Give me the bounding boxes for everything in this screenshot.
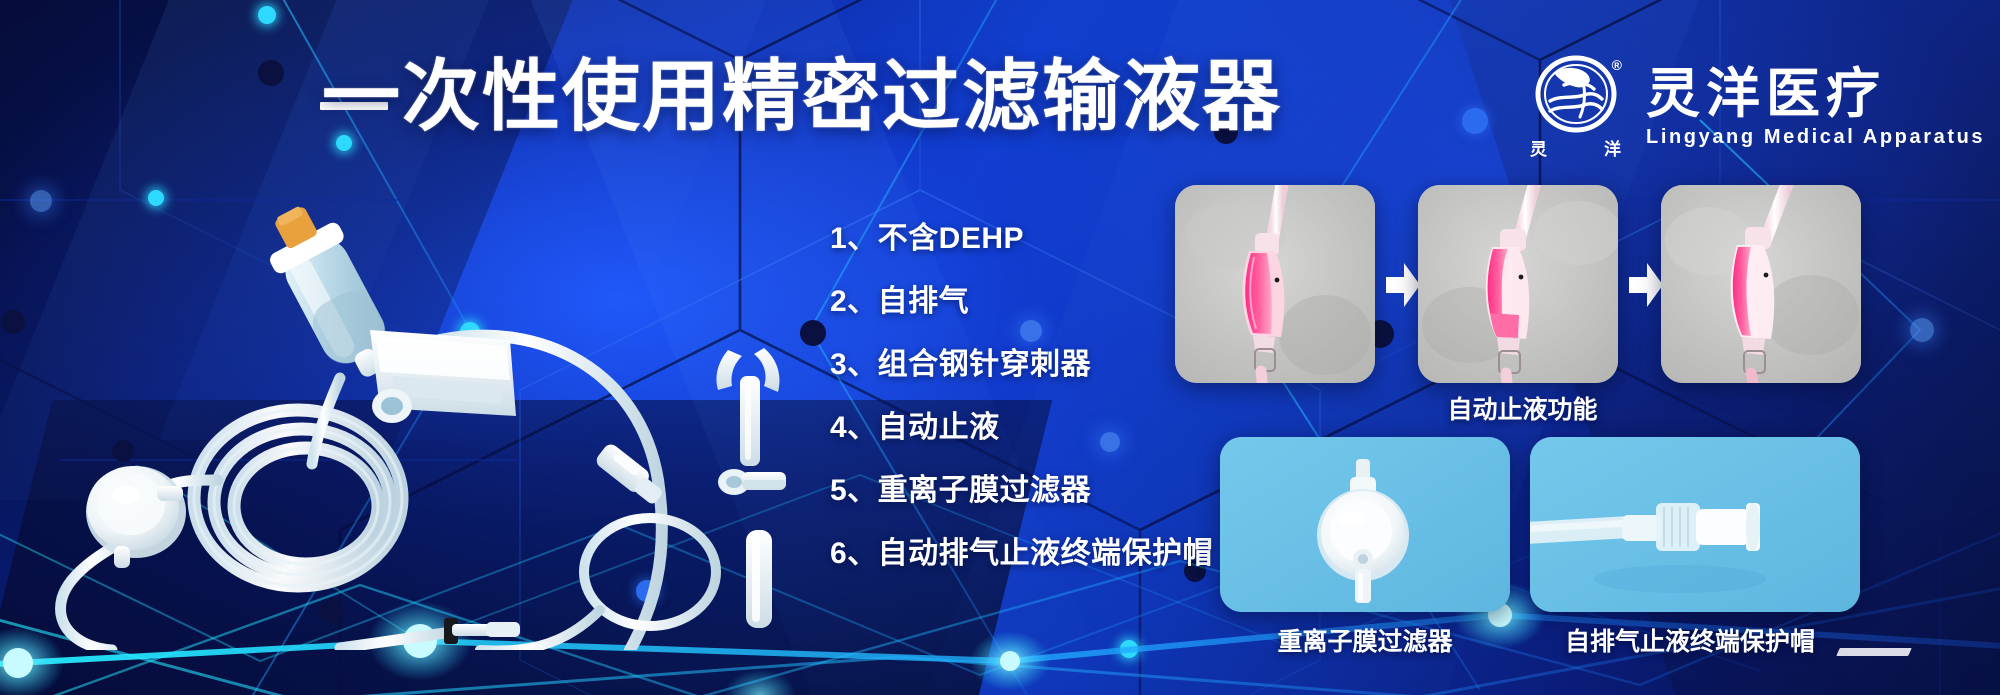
feature-list: 1、不含DEHP 2、自排气 3、组合钢针穿刺器 4、自动止液 5、重离子膜过滤… (830, 222, 1213, 600)
circular-wave-emblem-icon (1534, 55, 1618, 133)
page-title: 一次性使用精密过滤输液器 (322, 55, 1282, 137)
brand-logo: ® 灵 洋 灵洋医疗 Lingyang Medical Apparatus (1528, 55, 1985, 159)
arrow-right-icon (1625, 258, 1665, 312)
list-item: 4、自动止液 (830, 411, 1213, 474)
logo-mark-char-right: 洋 (1604, 135, 1622, 160)
heavy-ion-membrane-filter-photo (1220, 437, 1510, 612)
caption-auto-stop: 自动止液功能 (1185, 390, 1860, 426)
photo-card (1530, 437, 1860, 612)
node-dot (1910, 318, 1934, 342)
protective-cap-part (746, 530, 772, 628)
arrow-right-icon (1382, 258, 1422, 312)
drip-chamber-full-of-pink-fluid-photo (1175, 185, 1375, 383)
steel-needle-part (340, 618, 520, 648)
list-item: 5、重离子膜过滤器 (830, 474, 1213, 537)
logo-mark-char-left: 灵 (1530, 135, 1548, 160)
roller-clamp-part (370, 330, 516, 423)
list-item: 2、自排气 (830, 285, 1213, 348)
node-dot (1, 310, 25, 334)
company-name-en: Lingyang Medical Apparatus (1646, 125, 1985, 149)
drip-chamber-auto-stopped-photo (1661, 185, 1861, 383)
node-dot (1120, 640, 1138, 658)
drip-chamber-partially-drained-photo (1418, 185, 1618, 383)
caption-filter: 重离子膜过滤器 (1220, 622, 1510, 658)
product-hero-image (40, 180, 800, 650)
caption-protective-cap: 自排气止液终端保护帽 (1530, 622, 1850, 658)
list-item: 1、不含DEHP (830, 222, 1213, 285)
node-dot (800, 320, 826, 346)
company-name-cn: 灵洋医疗 (1646, 65, 1985, 123)
registered-trademark-icon: ® (1612, 57, 1622, 73)
node-dot (258, 60, 284, 86)
photo-card (1661, 185, 1861, 383)
logo-emblem-group: ® 灵 洋 (1528, 55, 1624, 159)
node-dot (258, 6, 276, 24)
list-item: 6、自动排气止液终端保护帽 (830, 537, 1213, 600)
self-venting-terminal-protective-cap-photo (1530, 437, 1860, 612)
photo-card (1175, 185, 1375, 383)
needle-assembly-part (716, 348, 786, 495)
product-banner: 一次性使用精密过滤输液器 ® 灵 洋 灵洋医疗 (0, 0, 2000, 695)
photo-card (1220, 437, 1510, 612)
photo-card (1418, 185, 1618, 383)
node-dot (1462, 108, 1488, 134)
list-item: 3、组合钢针穿刺器 (830, 348, 1213, 411)
